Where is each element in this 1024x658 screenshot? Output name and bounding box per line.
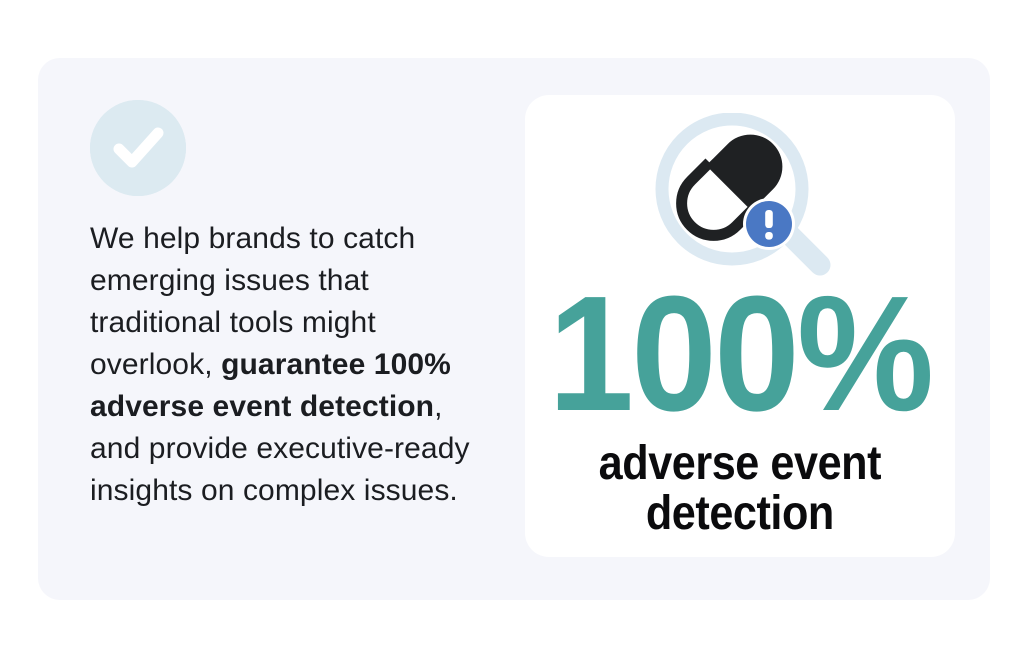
stat-caption-line-1: adverse event [599,439,881,489]
left-column: We help brands to catch emerging issues … [90,100,510,542]
stat-caption-line-2: detection [599,489,881,539]
magnifier-pill-alert-icon [640,113,840,285]
infographic-canvas: We help brands to catch emerging issues … [0,0,1024,658]
stat-number: 100% [548,291,931,417]
stat-caption: adverse event detection [599,439,881,539]
check-circle-icon [90,100,186,196]
content-panel: We help brands to catch emerging issues … [38,58,990,600]
stat-card: 100% adverse event detection [525,95,955,557]
body-paragraph: We help brands to catch emerging issues … [90,218,490,512]
